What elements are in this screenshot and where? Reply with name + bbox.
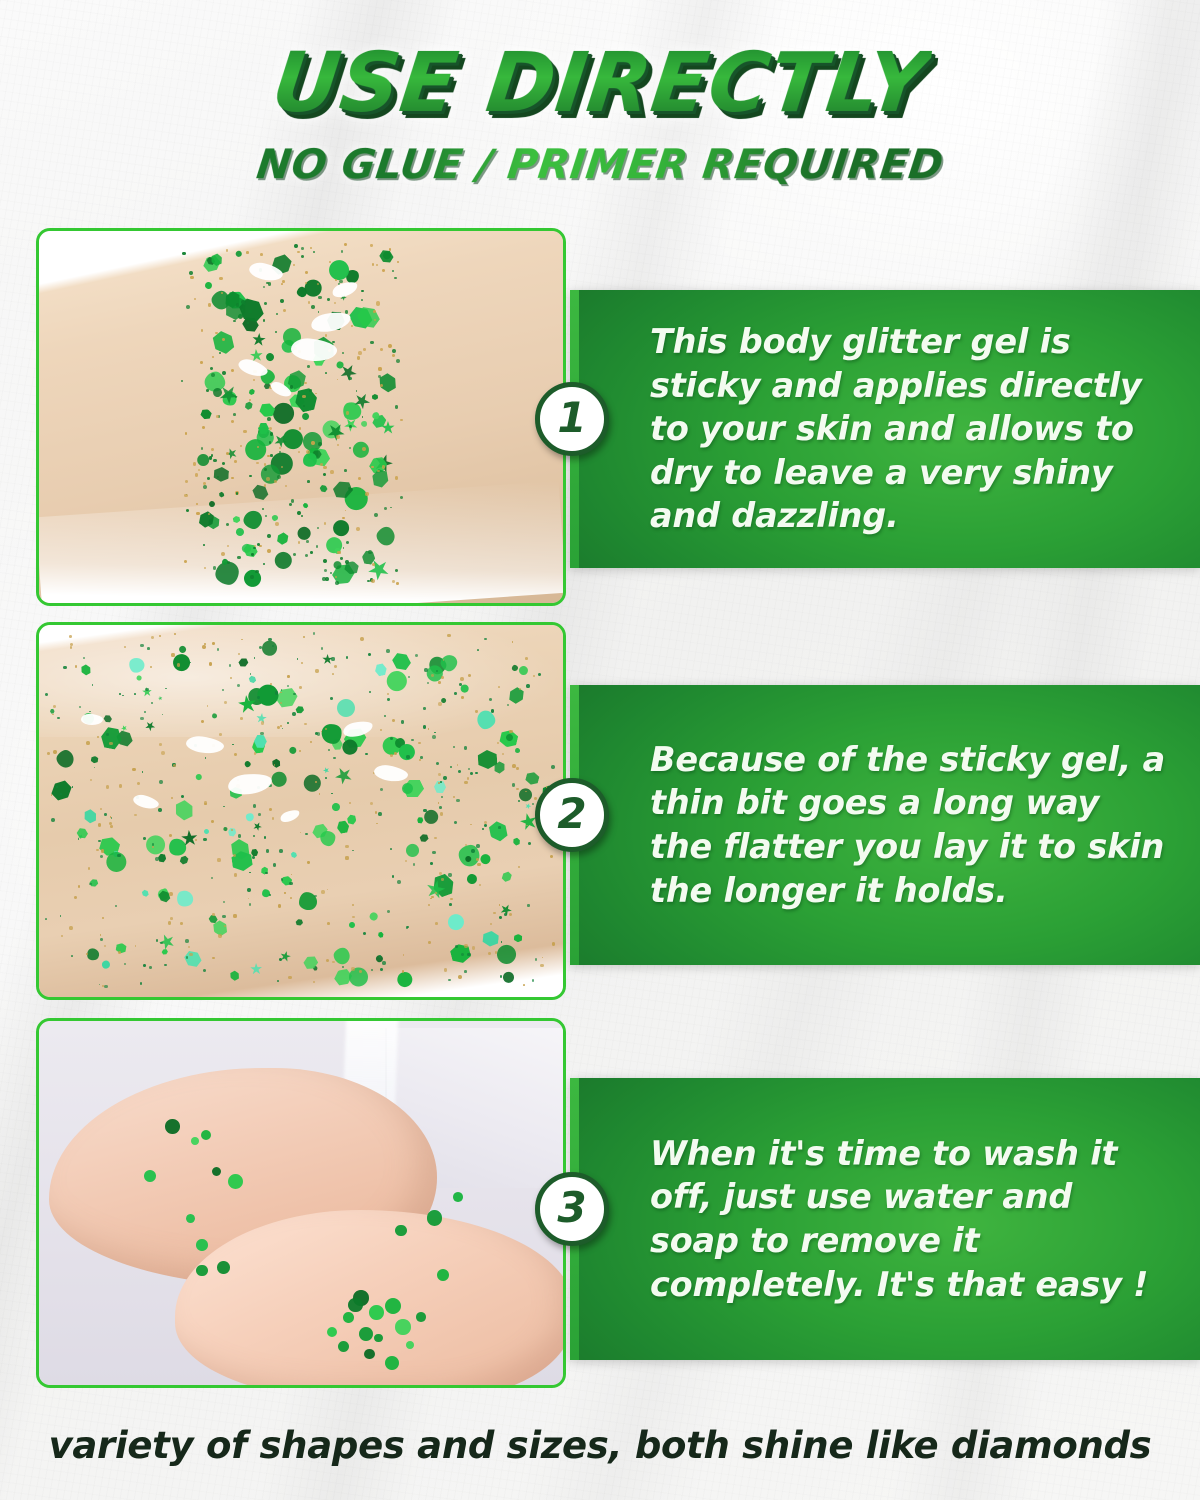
step-text-panel-3: When it's time to wash it off, just use …	[570, 1078, 1200, 1360]
forearm-skin-image	[39, 231, 563, 603]
footer-caption: variety of shapes and sizes, both shine …	[0, 1424, 1200, 1467]
step-photo-2	[36, 622, 566, 1000]
step-photo-1	[36, 228, 566, 606]
step-number-label-2: 2	[557, 793, 586, 835]
page-title: USE DIRECTLY	[267, 42, 932, 126]
step-number-badge-1: 1	[535, 382, 609, 456]
step-description-1: This body glitter gel is sticky and appl…	[570, 320, 1200, 538]
forearm-skin-image-2	[39, 625, 563, 997]
step-number-label-1: 1	[557, 397, 586, 439]
step-description-2: Because of the sticky gel, a thin bit go…	[570, 738, 1200, 912]
page-subtitle: NO GLUE / PRIMER REQUIRED	[254, 140, 946, 188]
step-text-panel-2: Because of the sticky gel, a thin bit go…	[570, 685, 1200, 965]
step-text-panel-1: This body glitter gel is sticky and appl…	[570, 290, 1200, 568]
infographic-page: USE DIRECTLY NO GLUE / PRIMER REQUIRED T…	[0, 0, 1200, 1500]
step-photo-3	[36, 1018, 566, 1388]
sink-washing-image	[39, 1021, 563, 1385]
step-number-label-3: 3	[557, 1187, 586, 1229]
step-description-3: When it's time to wash it off, just use …	[570, 1132, 1200, 1306]
step-number-badge-2: 2	[535, 778, 609, 852]
glitter-particle	[453, 1192, 463, 1202]
step-number-badge-3: 3	[535, 1172, 609, 1246]
header-block: USE DIRECTLY NO GLUE / PRIMER REQUIRED	[0, 42, 1200, 188]
